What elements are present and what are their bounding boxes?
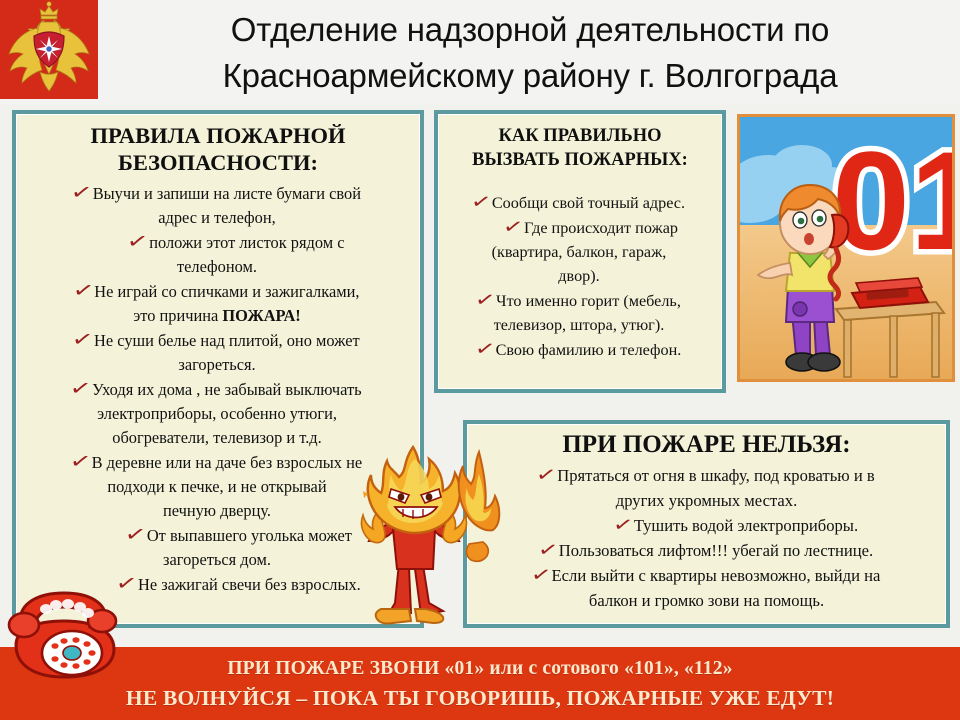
rule-item: ✓От выпавшего уголька может [26, 523, 408, 547]
rule-text: Выучи и запиши на листе бумаги свой [93, 184, 361, 203]
rule-text: обогреватели, телевизор и т.д. [112, 428, 321, 447]
rule-item-continuation: электроприборы, особенно утюги, [26, 402, 408, 425]
title-line-2: Красноармейскому району г. Волгограда [223, 53, 838, 99]
rule-item: ✓Сообщи свой точный адрес. [446, 190, 712, 215]
rule-item-continuation: других укромных местах. [475, 488, 938, 513]
rules-title-line-1: ПРАВИЛА ПОЖАРНОЙ [26, 122, 410, 149]
rule-item: ✓Где происходит пожар [446, 215, 712, 240]
checkmark-icon: ✓ [473, 336, 497, 362]
rule-text: подходи к печке, и не открывай [107, 477, 326, 496]
rule-item: ✓Тушить водой электроприборы. [475, 513, 938, 538]
rule-item: ✓положи этот листок рядом с [26, 230, 408, 254]
rule-text: Свою фамилию и телефон. [496, 341, 682, 359]
rule-text: От выпавшего уголька может [147, 526, 352, 545]
call-title-line-1: КАК ПРАВИЛЬНО [444, 124, 716, 148]
boy-phone-01-image: 01 01 [740, 117, 952, 379]
rule-item: ✓Не зажигай свечи без взрослых. [26, 572, 408, 596]
checkmark-icon: ✓ [611, 512, 635, 539]
checkmark-icon: ✓ [68, 376, 93, 401]
title-line-1: Отделение надзорной деятельности по [231, 7, 829, 53]
rule-text: других укромных местах. [616, 491, 797, 510]
rule-item: ✓Не играй со спичками и зажигалками, [26, 279, 408, 303]
red-desk-phone [852, 278, 928, 308]
rule-item-continuation: (квартира, балкон, гараж, [446, 240, 712, 264]
emergency-call-banner: ПРИ ПОЖАРЕ ЗВОНИ «01» или с сотового «10… [0, 647, 960, 720]
rule-text: Не суши белье над плитой, оно может [94, 331, 360, 350]
svg-text:01: 01 [832, 122, 952, 279]
page-title: Отделение надзорной деятельности по Крас… [104, 6, 956, 100]
poster-header: Отделение надзорной деятельности по Крас… [0, 0, 960, 104]
rule-text: телевизор, штора, утюг). [494, 316, 665, 334]
checkmark-icon: ✓ [123, 522, 148, 547]
fire-safety-rules-box: ПРАВИЛА ПОЖАРНОЙ БЕЗОПАСНОСТИ: ✓Выучи и … [12, 110, 424, 628]
emercom-eagle-emblem-icon [0, 0, 98, 99]
forbidden-box-title: ПРИ ПОЖАРЕ НЕЛЬЗЯ: [467, 424, 946, 461]
rule-item-continuation: телевизор, штора, утюг). [446, 313, 712, 337]
checkmark-icon: ✓ [501, 214, 525, 240]
rule-text: Сообщи свой точный адрес. [492, 194, 685, 212]
rule-item-continuation: это причина ПОЖАРА! [26, 304, 408, 327]
rule-text: это причина ПОЖАРА! [133, 306, 301, 325]
rule-text: В деревне или на даче без взрослых не [92, 453, 363, 472]
rule-item: ✓Уходя их дома , не забывай выключать [26, 377, 408, 401]
emphasis-text: ПОЖАРА! [222, 306, 300, 325]
emercom-emblem [0, 0, 98, 99]
forbidden-actions-box: ПРИ ПОЖАРЕ НЕЛЬЗЯ: ✓Прятаться от огня в … [463, 420, 950, 628]
rule-item: ✓Прятаться от огня в шкафу, под кроватью… [475, 463, 938, 488]
rule-text: загореться дом. [163, 550, 271, 569]
rule-item-continuation: балкон и громко зови на помощь. [475, 588, 938, 613]
rule-item: ✓Пользоваться лифтом!!! убегай по лестни… [475, 538, 938, 563]
banner-line-2: НЕ ВОЛНУЙСЯ – ПОКА ТЫ ГОВОРИШЬ, ПОЖАРНЫЕ… [126, 683, 834, 713]
call-list: ✓Сообщи свой точный адрес.✓Где происходи… [438, 174, 722, 362]
rule-text: двор). [558, 267, 599, 285]
banner-line-1: ПРИ ПОЖАРЕ ЗВОНИ «01» или с сотового «10… [227, 655, 732, 683]
rule-text: Если выйти с квартиры невозможно, выйди … [552, 566, 881, 585]
rule-text: Не играй со спичками и зажигалками, [94, 282, 359, 301]
checkmark-icon: ✓ [473, 287, 497, 313]
rule-item: ✓Свою фамилию и телефон. [446, 337, 712, 362]
rule-item-continuation: загореться. [26, 353, 408, 376]
rules-box-title: ПРАВИЛА ПОЖАРНОЙ БЕЗОПАСНОСТИ: [16, 114, 420, 179]
rule-item: ✓Если выйти с квартиры невозможно, выйди… [475, 563, 938, 588]
rule-item-continuation: обогреватели, телевизор и т.д. [26, 426, 408, 449]
how-to-call-firefighters-box: КАК ПРАВИЛЬНО ВЫЗВАТЬ ПОЖАРНЫХ: ✓Сообщи … [434, 110, 726, 393]
rule-text: Прятаться от огня в шкафу, под кроватью … [557, 466, 874, 485]
rule-text: Уходя их дома , не забывай выключать [92, 380, 362, 399]
rule-item-continuation: двор). [446, 264, 712, 288]
forbidden-list: ✓Прятаться от огня в шкафу, под кроватью… [467, 461, 946, 613]
rule-item-continuation: печную дверцу. [26, 499, 408, 522]
rule-text: (квартира, балкон, гараж, [492, 243, 667, 261]
checkmark-icon: ✓ [69, 180, 94, 205]
rules-title-line-2: БЕЗОПАСНОСТИ: [26, 149, 410, 176]
call-box-title: КАК ПРАВИЛЬНО ВЫЗВАТЬ ПОЖАРНЫХ: [438, 114, 722, 174]
fire-safety-poster: Отделение надзорной деятельности по Крас… [0, 0, 960, 720]
rule-text: печную дверцу. [163, 501, 271, 520]
rules-list: ✓Выучи и запиши на листе бумаги свойадре… [16, 179, 420, 596]
rule-item: ✓Что именно горит (мебель, [446, 288, 712, 313]
rule-text: Пользоваться лифтом!!! убегай по лестниц… [559, 541, 873, 560]
rule-item: ✓В деревне или на даче без взрослых не [26, 450, 408, 474]
checkmark-icon: ✓ [70, 327, 95, 352]
checkmark-icon: ✓ [114, 571, 139, 596]
rule-text: электроприборы, особенно утюги, [97, 404, 337, 423]
rule-text: Что именно горит (мебель, [496, 292, 681, 310]
rule-text: положи этот листок рядом с [149, 233, 344, 252]
rule-text: Не зажигай свечи без взрослых. [138, 575, 361, 594]
emergency-number-01: 01 01 [832, 122, 952, 279]
checkmark-icon: ✓ [71, 278, 96, 303]
rule-item-continuation: адрес и телефон, [26, 206, 408, 229]
rule-text: адрес и телефон, [158, 208, 276, 227]
rule-item: ✓Выучи и запиши на листе бумаги свой [26, 181, 408, 205]
rule-item-continuation: подходи к печке, и не открывай [26, 475, 408, 498]
checkmark-icon: ✓ [536, 537, 560, 564]
rule-item-continuation: телефоном. [26, 255, 408, 278]
rule-text: балкон и громко зови на помощь. [589, 591, 824, 610]
rule-item: ✓Не суши белье над плитой, оно может [26, 328, 408, 352]
checkmark-icon: ✓ [529, 562, 553, 589]
rule-item-continuation: загореться дом. [26, 548, 408, 571]
checkmark-icon: ✓ [125, 229, 150, 254]
rule-text: телефоном. [177, 257, 257, 276]
rule-text: загореться. [178, 355, 255, 374]
rule-text: Где происходит пожар [524, 219, 678, 237]
checkmark-icon: ✓ [68, 449, 93, 474]
call-title-line-2: ВЫЗВАТЬ ПОЖАРНЫХ: [444, 148, 716, 172]
checkmark-icon: ✓ [534, 462, 558, 489]
rule-text: Тушить водой электроприборы. [634, 516, 858, 535]
boy-calling-01-illustration: 01 01 [737, 114, 955, 382]
checkmark-icon: ✓ [469, 189, 493, 215]
